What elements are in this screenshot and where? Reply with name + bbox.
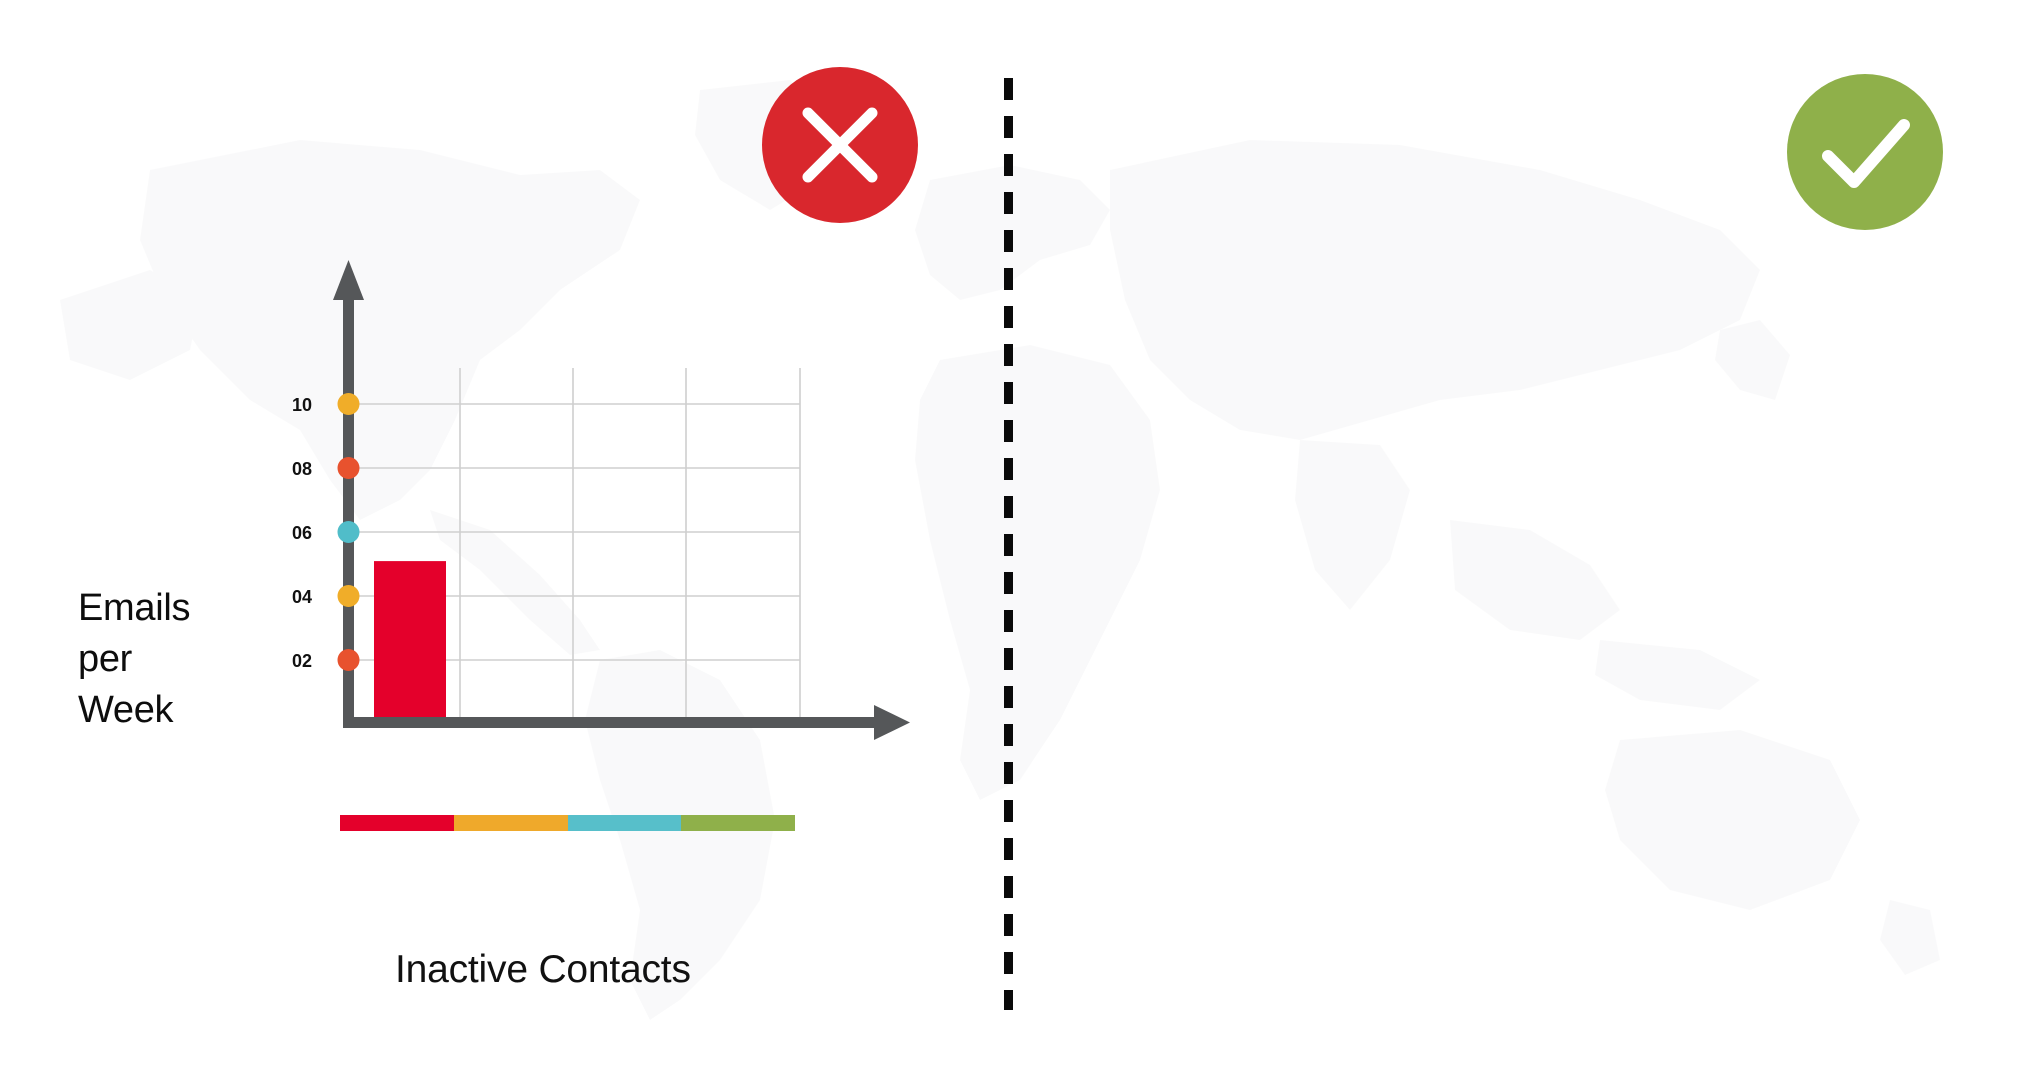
y-axis-title: Emails per Week (78, 583, 278, 736)
panel-correct: Emails per Week (1013, 0, 2021, 1080)
ytick-dot (338, 457, 360, 479)
ytick-label: 08 (292, 459, 312, 479)
segment-3 (568, 815, 682, 831)
segment-4 (681, 815, 795, 831)
segment-1 (340, 815, 454, 831)
ytick-label: 02 (292, 651, 312, 671)
ytick-dot (338, 649, 360, 671)
ytick-label: 10 (292, 395, 312, 415)
bar-value (374, 561, 446, 722)
ytick-dot (338, 393, 360, 415)
ytick-dot (338, 521, 360, 543)
x-axis-segment-bar (340, 815, 795, 831)
ytick-label: 06 (292, 523, 312, 543)
ytick-dot (338, 585, 360, 607)
chart-incorrect: 10 08 06 04 02 (330, 340, 930, 805)
segment-2 (454, 815, 568, 831)
infographic-canvas: Emails per Week (0, 0, 2021, 1080)
ytick-label: 04 (292, 587, 312, 607)
panel-incorrect: Emails per Week (0, 0, 1008, 1080)
x-axis-title: Inactive Contacts (395, 948, 691, 992)
